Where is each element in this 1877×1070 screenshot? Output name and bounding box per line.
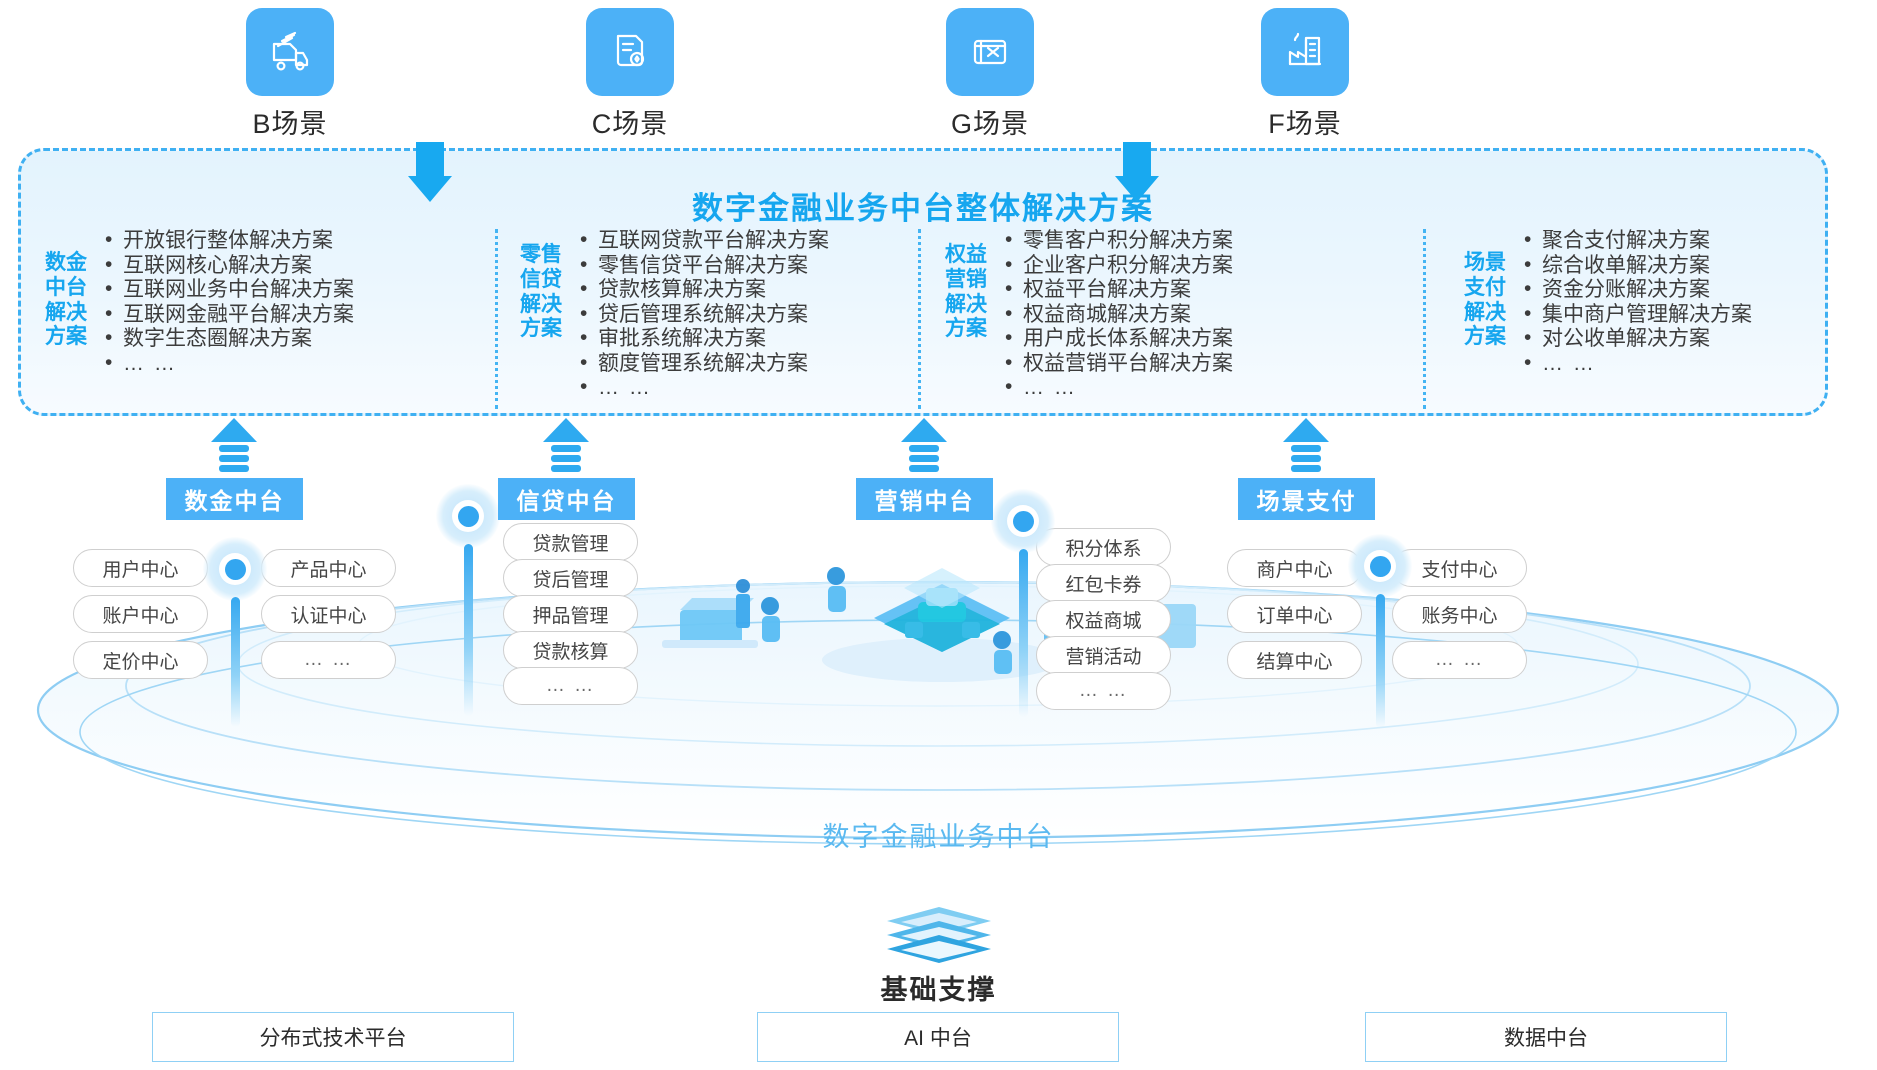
up-arrow-digital-finance: [211, 418, 257, 472]
pill-user-center[interactable]: 用户中心: [73, 549, 208, 587]
pill-merchant-center[interactable]: 商户中心: [1227, 549, 1362, 587]
pill-collateral-management[interactable]: 押品管理: [503, 595, 638, 633]
pill-accounting-center[interactable]: 账务中心: [1392, 595, 1527, 633]
list-item: 零售客户积分解决方案: [1003, 229, 1233, 254]
list-item: 审批系统解决方案: [578, 327, 829, 352]
list-item: 互联网业务中台解决方案: [103, 278, 354, 303]
scenario-title: F场景: [1155, 102, 1455, 141]
pill-more-payment[interactable]: … …: [1392, 641, 1527, 679]
down-arrow-f: [1115, 142, 1159, 202]
pill-payment-center[interactable]: 支付中心: [1392, 549, 1527, 587]
list-item: 互联网贷款平台解决方案: [578, 229, 829, 254]
base-box-distributed-tech-platform[interactable]: 分布式技术平台: [152, 1012, 514, 1062]
solution-column-retail-credit[interactable]: 零售 信贷 解决 方案 互联网贷款平台解决方案 零售信贷平台解决方案 贷款核算解…: [495, 229, 918, 409]
pin-marker-credit: [436, 484, 500, 716]
column-items: 聚合支付解决方案 综合收单解决方案 资金分账解决方案 集中商户管理解决方案 对公…: [1508, 229, 1752, 376]
solution-column-digital-finance[interactable]: 数金 中台 解决 方案 开放银行整体解决方案 互联网核心解决方案 互联网业务中台…: [21, 229, 495, 409]
list-item: 权益平台解决方案: [1003, 278, 1233, 303]
pill-rights-mall[interactable]: 权益商城: [1036, 600, 1171, 638]
list-item: 贷款核算解决方案: [578, 278, 829, 303]
pill-more-digital-finance[interactable]: … …: [261, 641, 396, 679]
column-label: 场景 支付 解决 方案: [1462, 251, 1508, 350]
column-items: 开放银行整体解决方案 互联网核心解决方案 互联网业务中台解决方案 互联网金融平台…: [89, 229, 354, 376]
list-ellipsis: … …: [578, 376, 829, 401]
list-item: 额度管理系统解决方案: [578, 352, 829, 377]
midtier-box-payment[interactable]: 场景支付: [1238, 478, 1375, 520]
list-item: 互联网核心解决方案: [103, 254, 354, 279]
foundation-title: 基础支撑: [0, 968, 1877, 1007]
midtier-box-marketing[interactable]: 营销中台: [856, 478, 993, 520]
pill-loan-management[interactable]: 贷款管理: [503, 523, 638, 561]
midtier-box-digital-finance[interactable]: 数金中台: [166, 478, 303, 520]
pill-settlement-center[interactable]: 结算中心: [1227, 641, 1362, 679]
list-item: 数字生态圈解决方案: [103, 327, 354, 352]
pill-more-marketing[interactable]: … …: [1036, 672, 1171, 710]
column-label: 数金 中台 解决 方案: [43, 251, 89, 350]
pill-account-center[interactable]: 账户中心: [73, 595, 208, 633]
solution-panel: 数字金融业务中台整体解决方案 数金 中台 解决 方案 开放银行整体解决方案 互联…: [18, 148, 1828, 416]
layered-stack-icon: [879, 905, 999, 967]
list-item: 互联网金融平台解决方案: [103, 303, 354, 328]
center-platform-label: 数字金融业务中台: [0, 815, 1877, 854]
document-verify-icon: [586, 8, 674, 96]
column-label: 权益 营销 解决 方案: [943, 243, 989, 342]
list-item: 权益商城解决方案: [1003, 303, 1233, 328]
pin-marker-digital-finance: [203, 537, 267, 727]
scenario-row: B场景 资金监管 I 企业财资 I …… C场景 消费类 I 新零售 I ……: [0, 0, 1877, 150]
list-ellipsis: … …: [1522, 352, 1752, 377]
pill-order-center[interactable]: 订单中心: [1227, 595, 1362, 633]
up-arrow-marketing: [901, 418, 947, 472]
panel-title: 数字金融业务中台整体解决方案: [21, 183, 1825, 228]
list-item: 集中商户管理解决方案: [1522, 303, 1752, 328]
list-item: 用户成长体系解决方案: [1003, 327, 1233, 352]
map-blueprint-icon: [946, 8, 1034, 96]
up-arrow-payment: [1283, 418, 1329, 472]
down-arrow-c: [408, 142, 452, 202]
pill-redpacket-coupon[interactable]: 红包卡券: [1036, 564, 1171, 602]
truck-logistics-icon: [246, 8, 334, 96]
list-item: 贷后管理系统解决方案: [578, 303, 829, 328]
scenario-title: C场景: [480, 102, 780, 141]
pill-post-loan-management[interactable]: 贷后管理: [503, 559, 638, 597]
factory-icon: [1261, 8, 1349, 96]
pill-marketing-campaign[interactable]: 营销活动: [1036, 636, 1171, 674]
column-items: 互联网贷款平台解决方案 零售信贷平台解决方案 贷款核算解决方案 贷后管理系统解决…: [564, 229, 829, 401]
solution-column-rights-marketing[interactable]: 权益 营销 解决 方案 零售客户积分解决方案 企业客户积分解决方案 权益平台解决…: [918, 229, 1423, 409]
pill-product-center[interactable]: 产品中心: [261, 549, 396, 587]
scenario-title: G场景: [840, 102, 1140, 141]
pin-marker-marketing: [991, 489, 1055, 717]
column-items: 零售客户积分解决方案 企业客户积分解决方案 权益平台解决方案 权益商城解决方案 …: [989, 229, 1233, 401]
pin-marker-payment: [1348, 534, 1412, 728]
list-item: 综合收单解决方案: [1522, 254, 1752, 279]
list-item: 对公收单解决方案: [1522, 327, 1752, 352]
list-item: 开放银行整体解决方案: [103, 229, 354, 254]
up-arrow-credit: [543, 418, 589, 472]
pill-more-credit[interactable]: … …: [503, 667, 638, 705]
pill-loan-accounting[interactable]: 贷款核算: [503, 631, 638, 669]
diagram-canvas: B场景 资金监管 I 企业财资 I …… C场景 消费类 I 新零售 I ……: [0, 0, 1877, 1070]
pill-pricing-center[interactable]: 定价中心: [73, 641, 208, 679]
list-item: 企业客户积分解决方案: [1003, 254, 1233, 279]
list-item: 聚合支付解决方案: [1522, 229, 1752, 254]
pill-points-system[interactable]: 积分体系: [1036, 528, 1171, 566]
list-ellipsis: … …: [1003, 376, 1233, 401]
column-label: 零售 信贷 解决 方案: [518, 243, 564, 342]
scenario-title: B场景: [140, 102, 440, 141]
list-item: 零售信贷平台解决方案: [578, 254, 829, 279]
list-item: 资金分账解决方案: [1522, 278, 1752, 303]
midtier-box-credit[interactable]: 信贷中台: [498, 478, 635, 520]
solution-column-scene-payment[interactable]: 场景 支付 解决 方案 聚合支付解决方案 综合收单解决方案 资金分账解决方案 集…: [1423, 229, 1825, 409]
pill-auth-center[interactable]: 认证中心: [261, 595, 396, 633]
base-box-ai-platform[interactable]: AI 中台: [757, 1012, 1119, 1062]
solution-columns: 数金 中台 解决 方案 开放银行整体解决方案 互联网核心解决方案 互联网业务中台…: [21, 229, 1825, 409]
base-box-data-platform[interactable]: 数据中台: [1365, 1012, 1727, 1062]
list-item: 权益营销平台解决方案: [1003, 352, 1233, 377]
list-ellipsis: … …: [103, 352, 354, 377]
